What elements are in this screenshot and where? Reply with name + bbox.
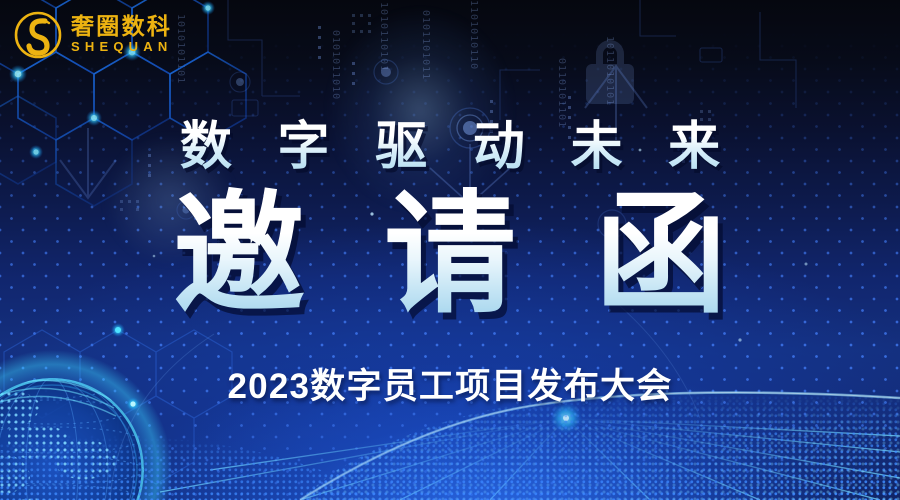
- event-subtitle: 2023数字员工项目发布大会: [0, 358, 900, 409]
- page-title: 邀 请 函: [0, 186, 900, 325]
- invitation-poster: 1010110101 0101101011 1101010110 0110101…: [0, 0, 900, 500]
- tagline: 数 字 驱 动 未 来: [0, 104, 900, 179]
- poster-content: 数 字 驱 动 未 来 邀 请 函 2023数字员工项目发布大会: [0, 0, 900, 500]
